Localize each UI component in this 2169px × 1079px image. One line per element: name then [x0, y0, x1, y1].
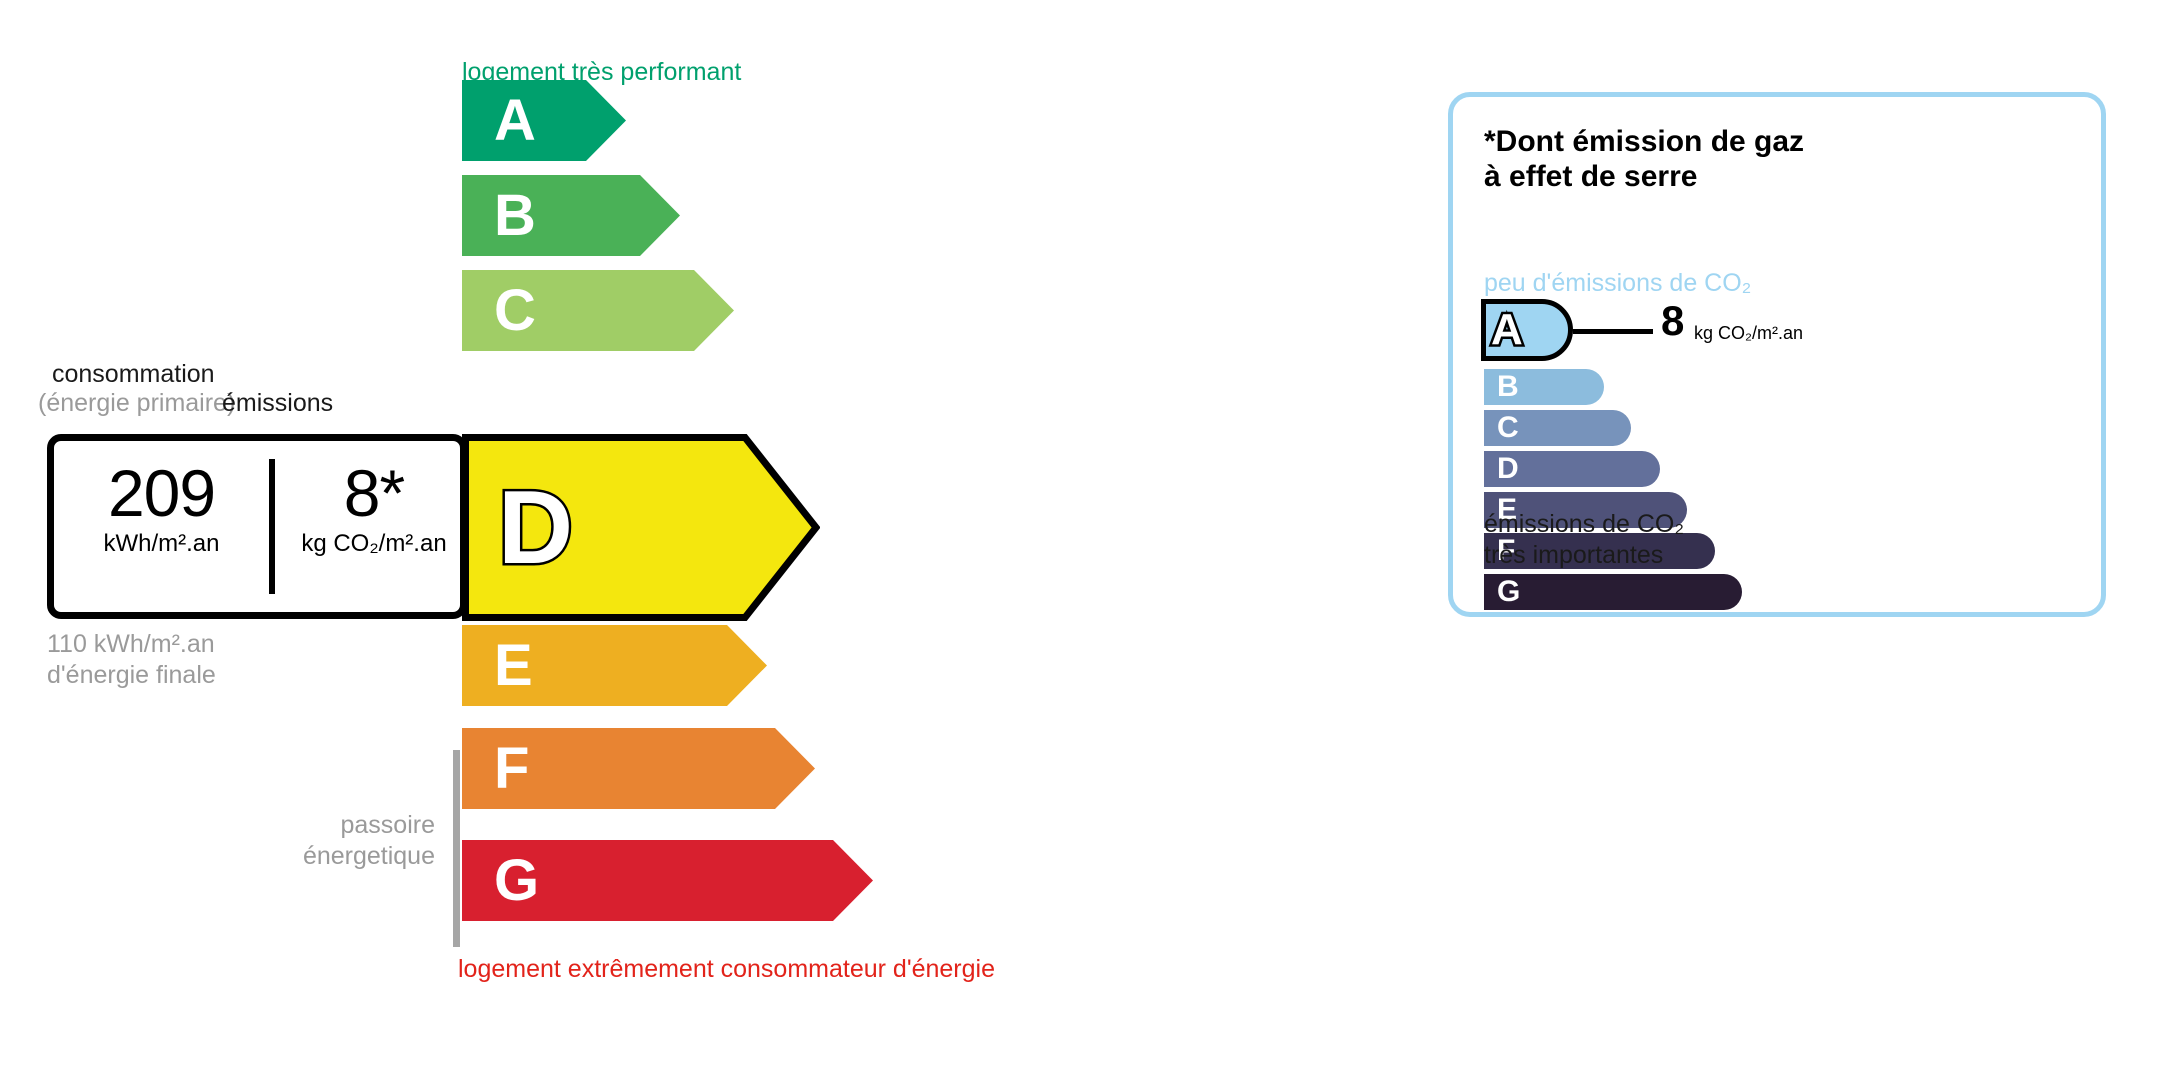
- energy-class-row-b[interactable]: B: [462, 175, 680, 256]
- energy-class-row-a[interactable]: A: [462, 80, 626, 161]
- energy-class-letter-c: C: [494, 282, 536, 340]
- co2-bottom-line2: très importantes: [1484, 540, 1684, 571]
- consumption-sublabel: (énergie primaire): [38, 389, 235, 418]
- co2-class-row-g[interactable]: G: [1484, 574, 1742, 610]
- energy-class-row-c[interactable]: C: [462, 270, 734, 351]
- emissions-unit: kg CO₂/m².an: [275, 530, 473, 558]
- co2-value-unit: kg CO₂/m².an: [1694, 323, 1803, 344]
- emissions-label: émissions: [222, 389, 333, 418]
- passoire-line2: énergetique: [303, 841, 435, 872]
- energy-arrow-a-shape: [462, 80, 626, 161]
- energy-class-row-f[interactable]: F: [462, 728, 815, 809]
- emissions-value-cell: 8* kg CO₂/m².an: [275, 459, 473, 558]
- consumption-label: consommation: [52, 360, 215, 389]
- co2-class-row-a-current[interactable]: A: [1481, 299, 1573, 361]
- energy-class-letter-d: D: [498, 476, 573, 580]
- co2-bottom-line1: émissions de CO₂: [1484, 509, 1684, 540]
- energy-class-letter-g: G: [494, 852, 539, 910]
- consumption-unit: kWh/m².an: [54, 530, 269, 558]
- co2-class-row-b[interactable]: B: [1484, 369, 1604, 405]
- energy-class-letter-a: A: [494, 92, 536, 150]
- final-energy-value: 110 kWh/m².an: [47, 629, 216, 660]
- passoire-label: passoire énergetique: [303, 810, 435, 871]
- co2-bar-g: [1484, 574, 1742, 610]
- energy-performance-chart: logement très performant A B C D E: [0, 0, 1400, 1079]
- co2-bottom-caption: émissions de CO₂ très importantes: [1484, 509, 1684, 570]
- energy-class-letter-b: B: [494, 187, 536, 245]
- final-energy-note: 110 kWh/m².an d'énergie finale: [47, 629, 216, 690]
- co2-class-letter-d: D: [1497, 454, 1519, 484]
- consumption-value: 209: [54, 459, 269, 528]
- energy-class-row-g[interactable]: G: [462, 840, 873, 921]
- co2-panel-title: *Dont émission de gaz à effet de serre: [1484, 124, 1804, 195]
- co2-top-caption: peu d'émissions de CO₂: [1484, 269, 1751, 298]
- co2-class-row-c[interactable]: C: [1484, 410, 1631, 446]
- energy-class-letter-e: E: [494, 637, 533, 695]
- co2-connector-line: [1573, 329, 1653, 334]
- co2-class-letter-a: A: [1491, 308, 1523, 352]
- energy-bottom-caption: logement extrêmement consommateur d'éner…: [458, 955, 995, 984]
- co2-class-row-d[interactable]: D: [1484, 451, 1660, 487]
- co2-title-line1: *Dont émission de gaz: [1484, 124, 1804, 159]
- final-energy-label: d'énergie finale: [47, 660, 216, 691]
- co2-title-line2: à effet de serre: [1484, 159, 1804, 194]
- energy-class-letter-f: F: [494, 740, 529, 798]
- emissions-value: 8*: [275, 459, 473, 528]
- energy-class-row-d-current[interactable]: D: [462, 434, 820, 621]
- co2-class-letter-c: C: [1497, 413, 1519, 443]
- co2-class-letter-b: B: [1497, 372, 1519, 402]
- co2-class-letter-g: G: [1497, 577, 1520, 607]
- consumption-value-cell: 209 kWh/m².an: [54, 459, 269, 558]
- co2-value: 8: [1661, 300, 1684, 342]
- values-box: 209 kWh/m².an 8* kg CO₂/m².an: [47, 434, 467, 619]
- co2-emissions-panel: *Dont émission de gaz à effet de serre p…: [1448, 92, 2106, 617]
- passoire-bracket-bar: [453, 750, 460, 947]
- passoire-line1: passoire: [303, 810, 435, 841]
- energy-class-row-e[interactable]: E: [462, 625, 767, 706]
